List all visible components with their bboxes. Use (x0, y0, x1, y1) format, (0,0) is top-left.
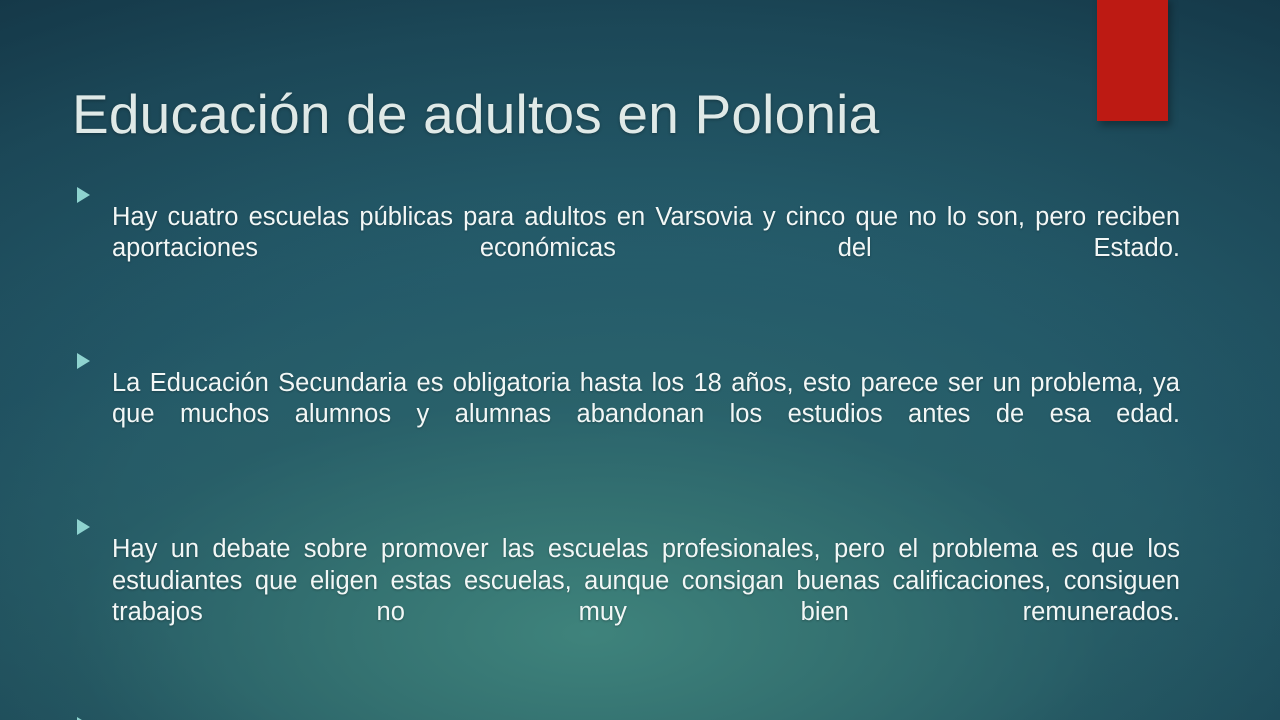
bullet-list: Hay cuatro escuelas públicas para adulto… (72, 176, 1180, 720)
list-item: Hay cuatro escuelas públicas para adulto… (72, 176, 1180, 322)
triangle-right-icon (77, 187, 90, 203)
bullet-marker (72, 342, 112, 369)
accent-bar-decoration (1097, 0, 1168, 121)
presentation-slide: Educación de adultos en Polonia Hay cuat… (0, 0, 1280, 720)
bullet-marker (72, 508, 112, 535)
list-item-text: La Educación Secundaria es obligatoria h… (112, 368, 1180, 463)
triangle-right-icon (77, 353, 90, 369)
triangle-right-icon (77, 519, 90, 535)
list-item: Hay un debate sobre promover las escuela… (72, 508, 1180, 686)
bullet-marker (72, 176, 112, 203)
list-item: La Educación Secundaria es obligatoria h… (72, 342, 1180, 488)
page-title: Educación de adultos en Polonia (72, 85, 1072, 144)
list-item: La educación secundaria para adultos se … (72, 706, 1180, 720)
list-item-text: Hay cuatro escuelas públicas para adulto… (112, 202, 1180, 297)
list-item-text: Hay un debate sobre promover las escuela… (112, 534, 1180, 661)
bullet-marker (72, 706, 112, 720)
